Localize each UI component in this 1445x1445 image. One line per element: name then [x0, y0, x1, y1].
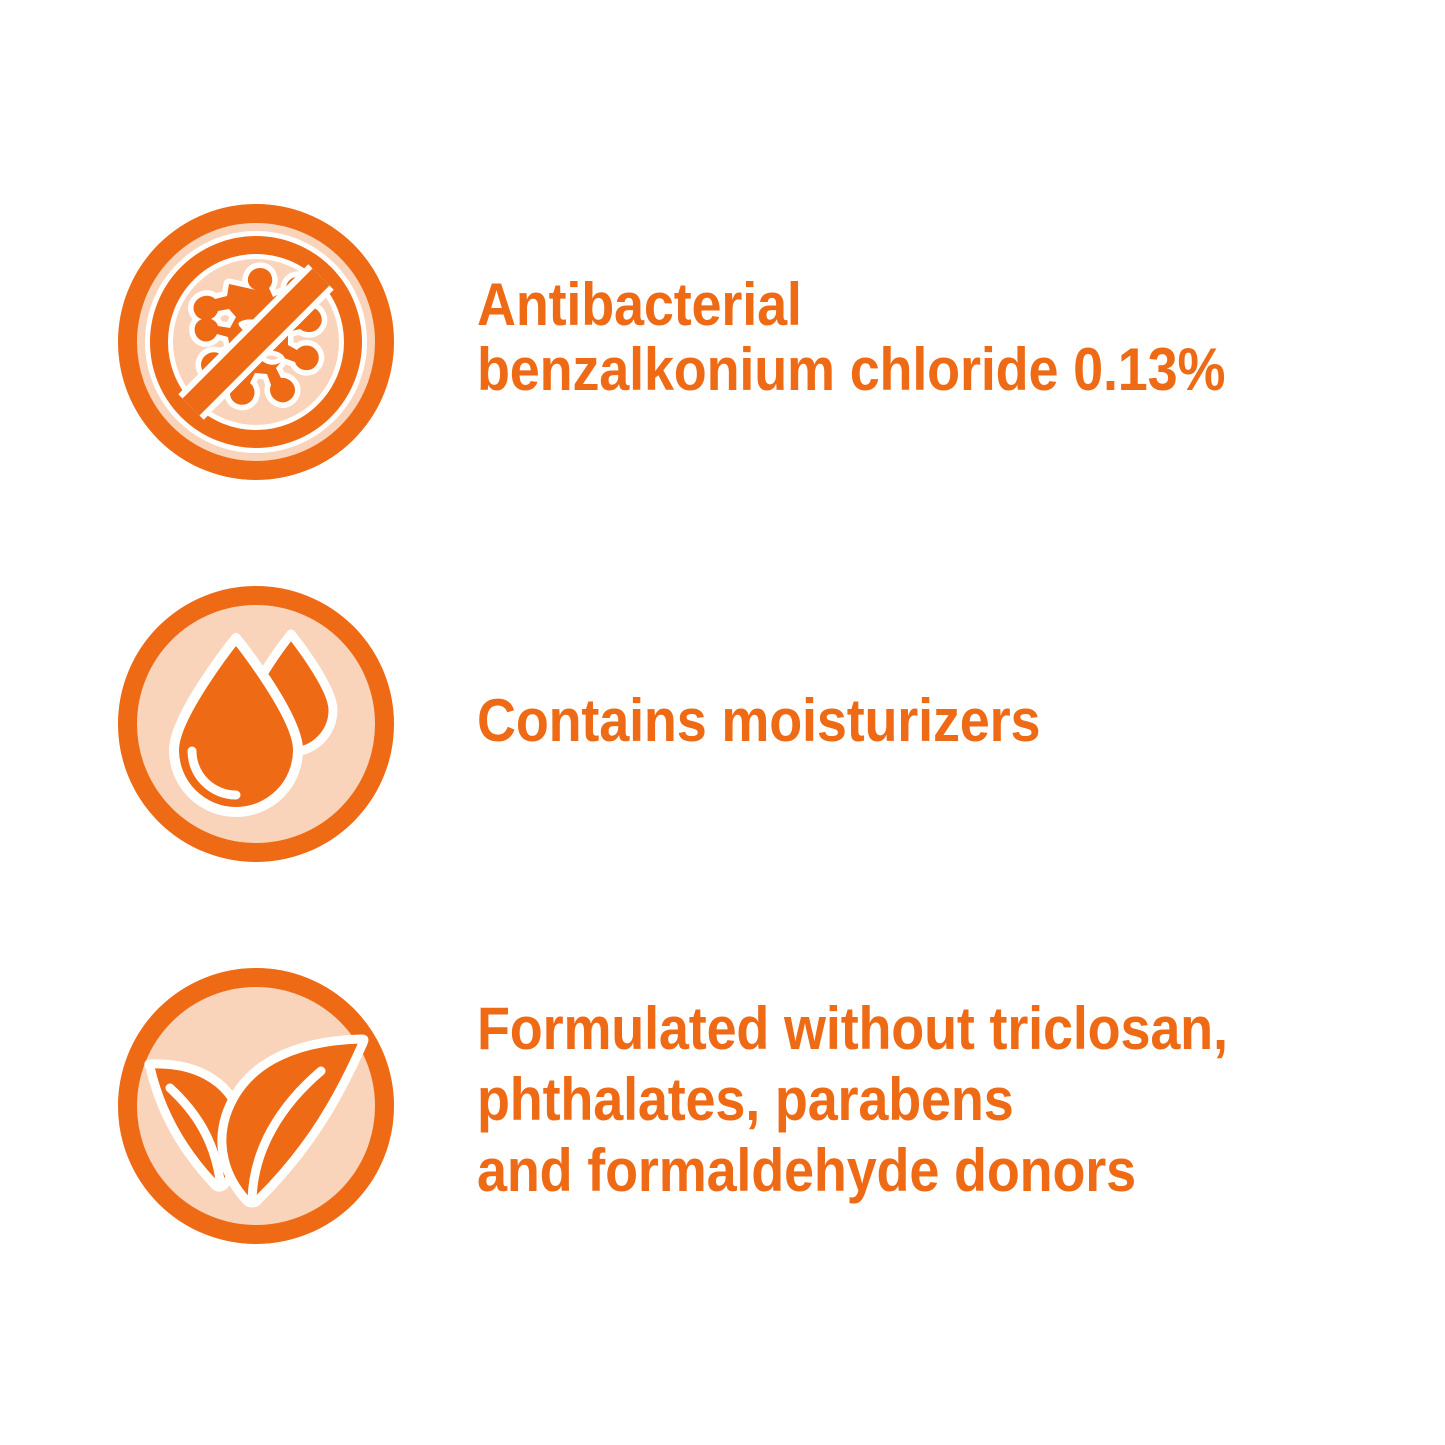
no-bacteria-icon: [108, 194, 404, 490]
product-benefits-panel: Antibacterial benzalkonium chloride 0.13…: [0, 0, 1445, 1445]
water-droplets-icon: [108, 576, 404, 872]
leaves-icon: [108, 958, 404, 1254]
feature-text-formulated-without: Formulated without triclosan, phthalates…: [477, 993, 1305, 1206]
feature-text-antibacterial: Antibacterial benzalkonium chloride 0.13…: [477, 272, 1305, 402]
feature-text-moisturizers: Contains moisturizers: [477, 688, 1305, 753]
